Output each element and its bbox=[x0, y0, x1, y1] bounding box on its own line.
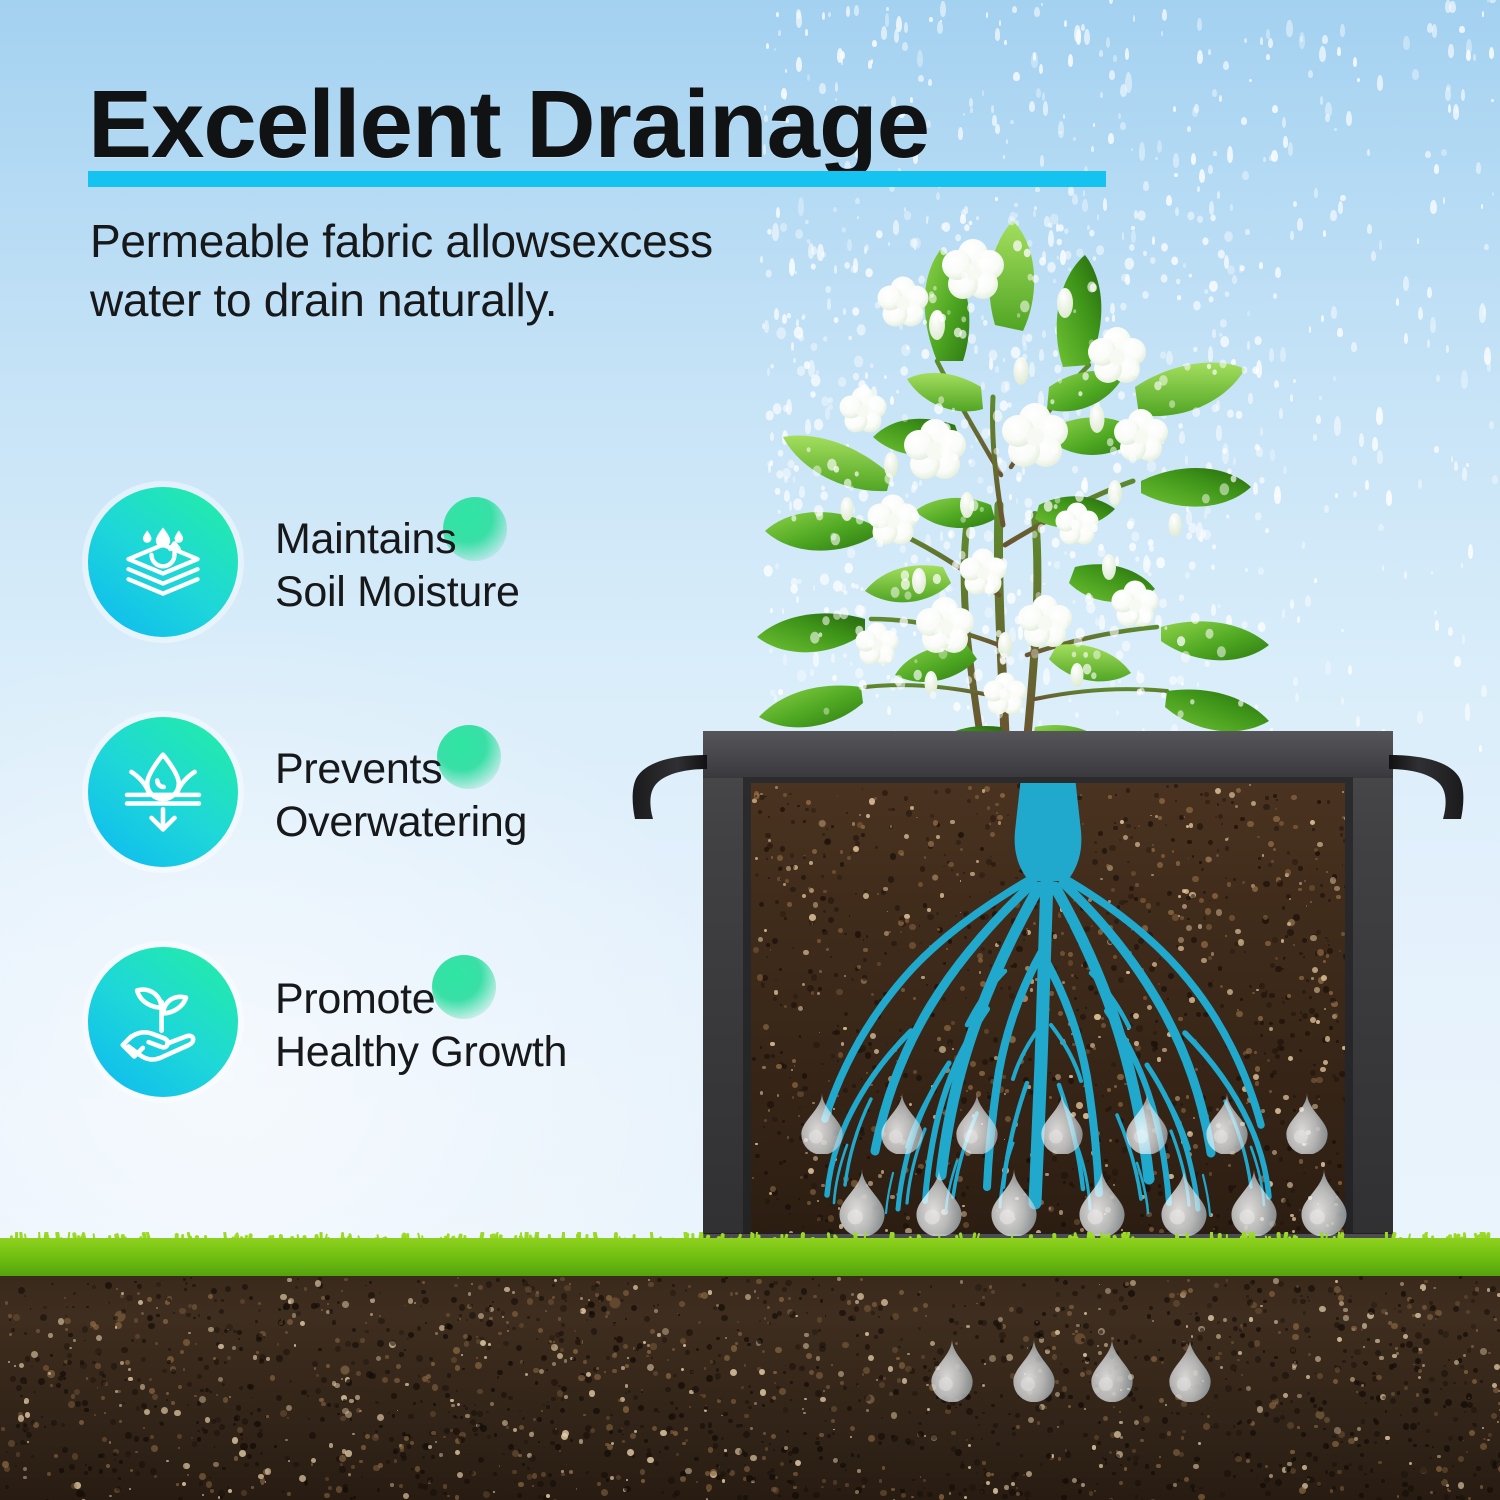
feature-item-prevents-overwatering: Prevents Overwatering bbox=[88, 717, 708, 947]
subtitle-line-1: Permeable fabric allowsexcess bbox=[90, 212, 713, 271]
feature-line-1a: Maintains bbox=[275, 515, 456, 563]
feature-label-1: Maintains Soil Moisture bbox=[275, 513, 520, 620]
page-title: Excellent Drainage bbox=[88, 76, 929, 174]
accent-dot bbox=[437, 725, 501, 789]
feature-list: Maintains Soil Moisture bbox=[88, 487, 708, 1177]
droplet-through-membrane-down-arrow-icon bbox=[88, 717, 238, 867]
hand-holding-sprout-icon bbox=[88, 947, 238, 1097]
feature-line-3a: Promote bbox=[275, 975, 435, 1023]
bag-top-rim bbox=[703, 731, 1393, 778]
accent-dot bbox=[432, 955, 496, 1019]
feature-label-3: Promote Healthy Growth bbox=[275, 973, 567, 1080]
plant-root-system bbox=[751, 783, 1345, 1233]
ground-soil-cross-section bbox=[0, 1276, 1500, 1500]
feature-label-2: Prevents Overwatering bbox=[275, 743, 527, 850]
feature-item-maintains-soil-moisture: Maintains Soil Moisture bbox=[88, 487, 708, 717]
title-underline-accent bbox=[88, 171, 1106, 187]
feature-line-2b: Overwatering bbox=[275, 798, 527, 846]
infographic-canvas: Excellent Drainage Permeable fabric allo… bbox=[0, 0, 1500, 1500]
page-subtitle: Permeable fabric allowsexcess water to d… bbox=[90, 212, 713, 330]
feature-line-3b: Healthy Growth bbox=[275, 1028, 567, 1076]
feature-line-2a: Prevents bbox=[275, 745, 442, 793]
bag-handle-right bbox=[1387, 753, 1465, 835]
fabric-grow-bag bbox=[703, 731, 1393, 1279]
soil-layers-water-drops-icon bbox=[88, 487, 238, 637]
feature-item-promote-healthy-growth: Promote Healthy Growth bbox=[88, 947, 708, 1177]
feature-line-1b: Soil Moisture bbox=[275, 568, 520, 616]
jasmine-plant bbox=[705, 175, 1325, 755]
subtitle-line-2: water to drain naturally. bbox=[90, 271, 713, 330]
